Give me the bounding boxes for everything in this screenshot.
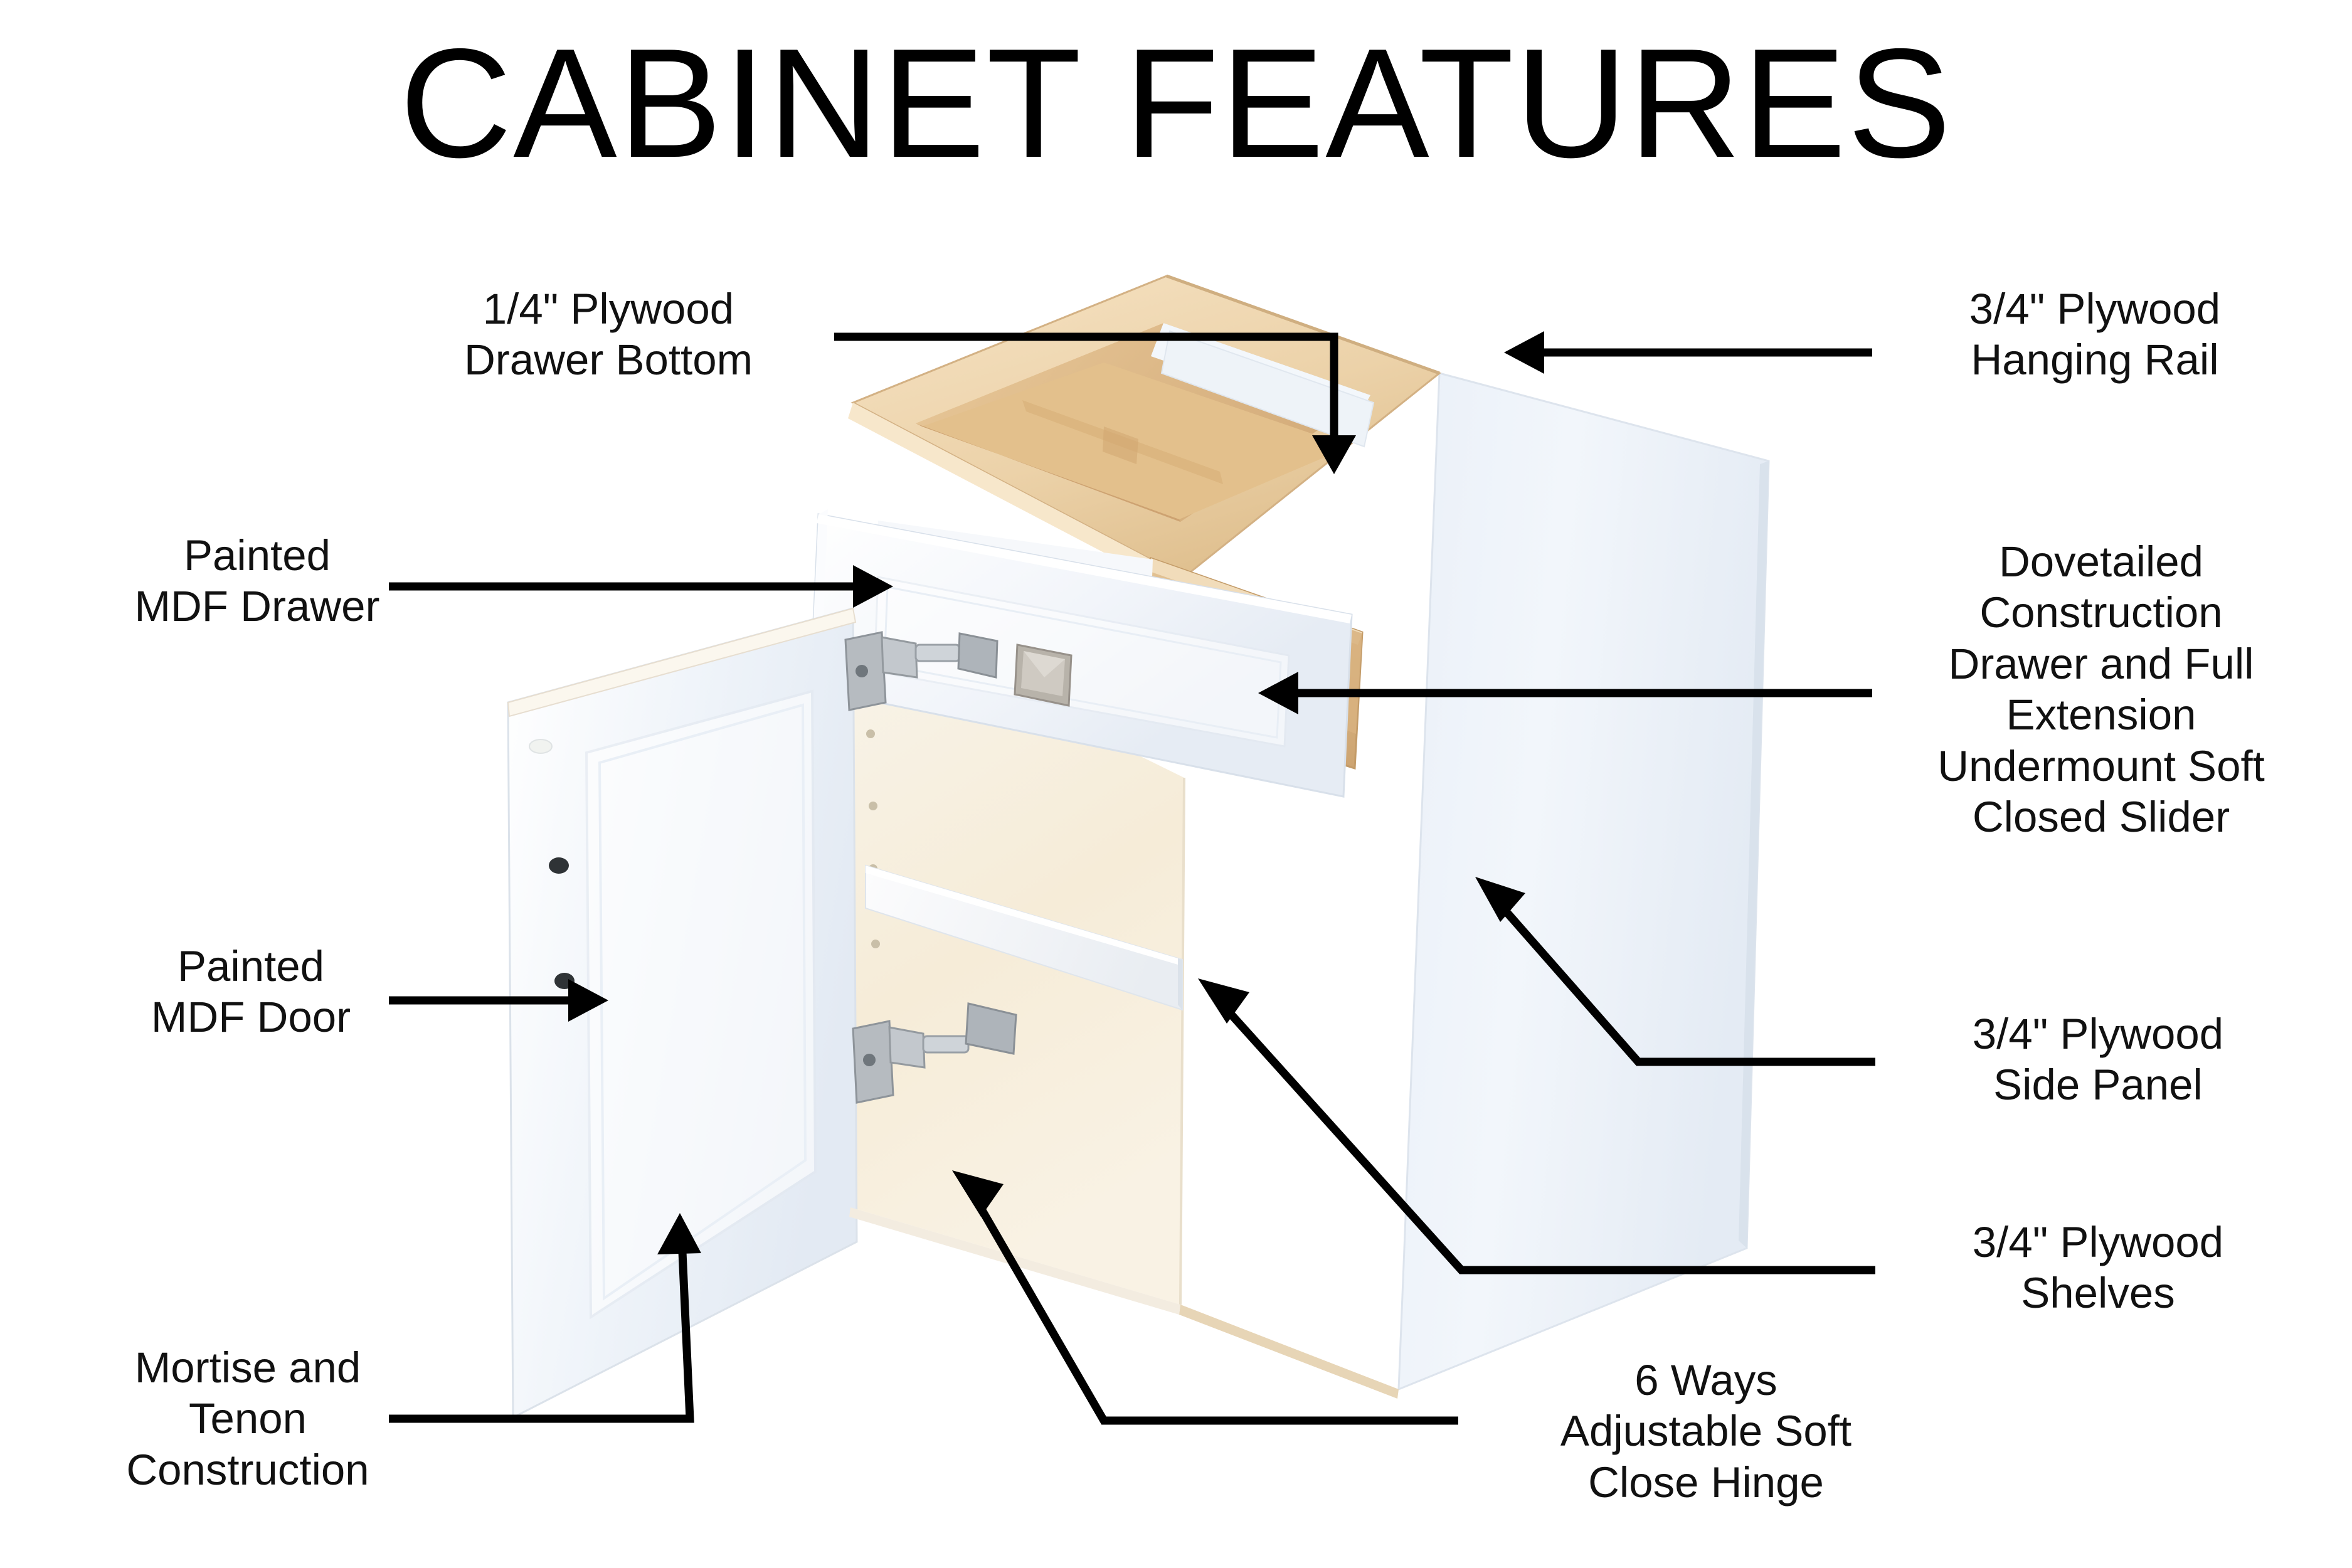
cabinet-door[interactable] xyxy=(508,608,857,1417)
callout-soft-close-hinge: 6 Ways Adjustable Soft Close Hinge xyxy=(1461,1355,1951,1508)
callout-drawer-bottom: 1/4" Plywood Drawer Bottom xyxy=(376,283,840,386)
callout-mortise-tenon: Mortise and Tenon Construction xyxy=(53,1342,442,1495)
callout-side-panel: 3/4" Plywood Side Panel xyxy=(1878,1009,2318,1111)
callout-dovetailed-slider: Dovetailed Construction Drawer and Full … xyxy=(1869,536,2333,842)
callout-shelves: 3/4" Plywood Shelves xyxy=(1878,1217,2318,1319)
callout-painted-mdf-drawer: Painted MDF Drawer xyxy=(63,530,452,632)
callout-hanging-rail: 3/4" Plywood Hanging Rail xyxy=(1875,283,2314,386)
poster-canvas: CABINET FEATURES xyxy=(0,0,2352,1568)
drawer-handle[interactable] xyxy=(1015,645,1071,706)
cabinet-side-panel xyxy=(1399,373,1769,1389)
page-title: CABINET FEATURES xyxy=(0,25,2352,181)
cabinet-illustration xyxy=(477,238,1932,1461)
cabinet-svg xyxy=(477,238,1932,1461)
callout-painted-mdf-door: Painted MDF Door xyxy=(56,941,445,1043)
